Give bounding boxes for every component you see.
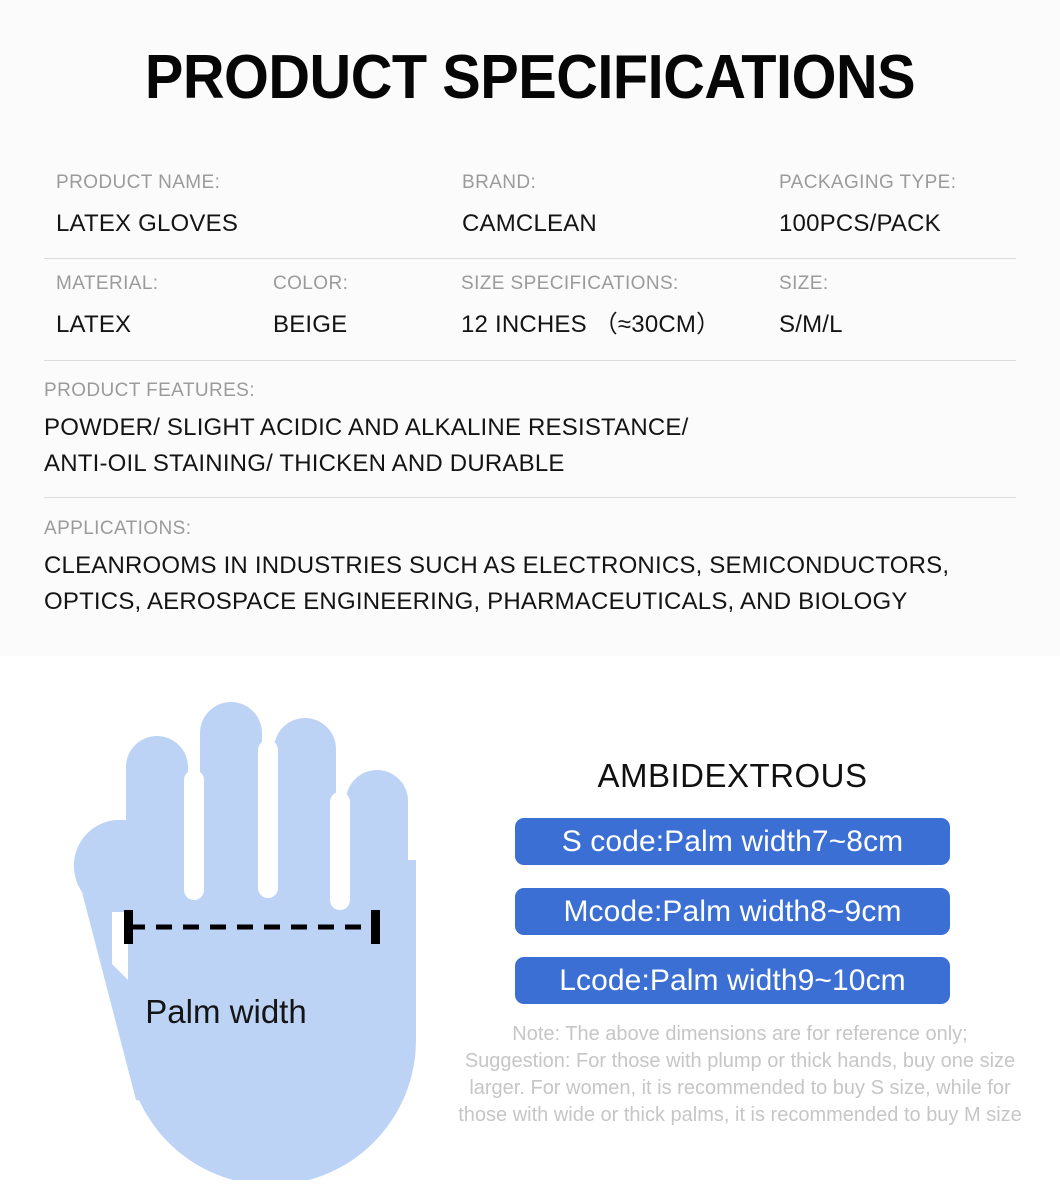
spec-value: 100PCS/PACK: [779, 210, 956, 238]
spec-label: MATERIAL:: [56, 273, 159, 295]
spec-label: PACKAGING TYPE:: [779, 172, 956, 194]
applications-text: CLEANROOMS IN INDUSTRIES SUCH AS ELECTRO…: [44, 548, 949, 620]
divider: [44, 258, 1016, 259]
spec-value: LATEX GLOVES: [56, 210, 238, 238]
spec-label: SIZE SPECIFICATIONS:: [461, 273, 720, 295]
spec-label: PRODUCT NAME:: [56, 172, 238, 194]
divider: [44, 497, 1016, 498]
applications-line: CLEANROOMS IN INDUSTRIES SUCH AS ELECTRO…: [44, 548, 949, 584]
size-note-line: Suggestion: For those with plump or thic…: [440, 1048, 1040, 1075]
spec-field-size-specifications: SIZE SPECIFICATIONS: 12 INCHES （≈30CM）: [461, 273, 720, 339]
finger-gap: [184, 770, 204, 900]
applications-label: APPLICATIONS:: [44, 518, 191, 540]
spec-field-size: SIZE: S/M/L: [779, 273, 843, 339]
spec-field-packaging-type: PACKAGING TYPE: 100PCS/PACK: [779, 172, 956, 238]
palm-width-label: Palm width: [16, 992, 436, 1032]
size-badge-l[interactable]: Lcode:Palm width9~10cm: [515, 957, 950, 1004]
spec-value: BEIGE: [273, 311, 348, 339]
finger-gap: [258, 740, 278, 898]
size-note-line: those with wide or thick palms, it is re…: [440, 1102, 1040, 1129]
size-badge-m[interactable]: Mcode:Palm width8~9cm: [515, 888, 950, 935]
spec-field-brand: BRAND: CAMCLEAN: [462, 172, 597, 238]
spec-label: COLOR:: [273, 273, 348, 295]
ambidextrous-heading: AMBIDEXTROUS: [515, 756, 950, 796]
spec-field-color: COLOR: BEIGE: [273, 273, 348, 339]
hand-diagram: Palm width: [16, 680, 436, 1180]
spec-field-material: MATERIAL: LATEX: [56, 273, 159, 339]
size-note-line: Note: The above dimensions are for refer…: [440, 1021, 1040, 1048]
applications-line: OPTICS, AEROSPACE ENGINEERING, PHARMACEU…: [44, 584, 949, 620]
spec-value: LATEX: [56, 311, 159, 339]
page-title: PRODUCT SPECIFICATIONS: [37, 44, 1023, 112]
product-features-line: POWDER/ SLIGHT ACIDIC AND ALKALINE RESIS…: [44, 410, 688, 446]
spec-value: CAMCLEAN: [462, 210, 597, 238]
spec-label: SIZE:: [779, 273, 843, 295]
size-note-line: larger. For women, it is recommended to …: [440, 1075, 1040, 1102]
spec-label: BRAND:: [462, 172, 597, 194]
size-note: Note: The above dimensions are for refer…: [440, 1021, 1040, 1129]
product-features-line: ANTI-OIL STAINING/ THICKEN AND DURABLE: [44, 446, 688, 482]
spec-value: 12 INCHES （≈30CM）: [461, 311, 720, 339]
sizing-section: Palm width AMBIDEXTROUS S code:Palm widt…: [0, 656, 1060, 1194]
spec-field-product-name: PRODUCT NAME: LATEX GLOVES: [56, 172, 238, 238]
product-features-text: POWDER/ SLIGHT ACIDIC AND ALKALINE RESIS…: [44, 410, 688, 482]
finger-index: [126, 736, 188, 966]
finger-gap: [330, 792, 350, 910]
size-badge-s[interactable]: S code:Palm width7~8cm: [515, 818, 950, 865]
divider: [44, 360, 1016, 361]
hand-illustration-icon: [16, 680, 436, 1180]
product-specifications-section: PRODUCT SPECIFICATIONS PRODUCT NAME: LAT…: [0, 0, 1060, 656]
spec-value: S/M/L: [779, 311, 843, 339]
product-features-label: PRODUCT FEATURES:: [44, 380, 255, 402]
